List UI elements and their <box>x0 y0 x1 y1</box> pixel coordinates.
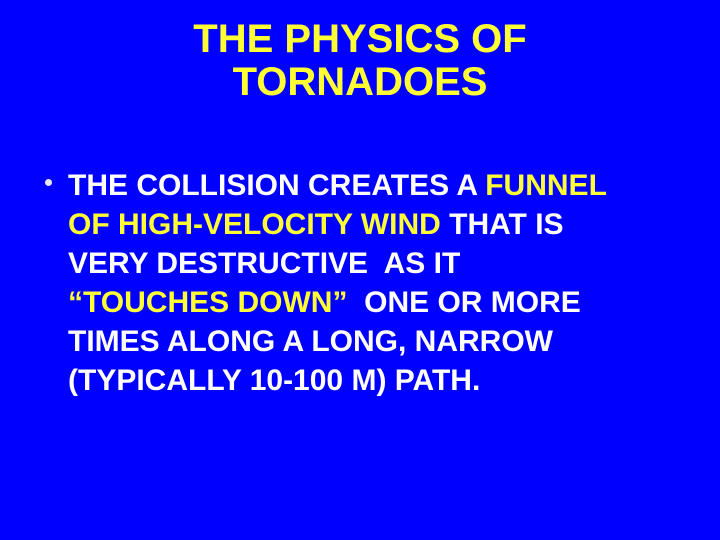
body-line-3: VERY DESTRUCTIVE AS IT <box>68 244 680 283</box>
bullet-point-icon <box>45 179 52 186</box>
presentation-slide: THE PHYSICS OF TORNADOES THE COLLISION C… <box>0 0 720 540</box>
body-line-5: TIMES ALONG A LONG, NARROW <box>68 322 680 361</box>
slide-body: THE COLLISION CREATES A FUNNEL OF HIGH-V… <box>40 166 680 400</box>
body-line-1: THE COLLISION CREATES A FUNNEL <box>68 166 680 205</box>
body-line-2: OF HIGH-VELOCITY WIND THAT IS <box>68 205 680 244</box>
body-line-6: (TYPICALLY 10-100 M) PATH. <box>68 361 680 400</box>
body-line-4-text-highlight: “TOUCHES DOWN” <box>68 286 347 319</box>
slide-title-line-1: THE PHYSICS OF <box>60 18 660 61</box>
body-line-4: “TOUCHES DOWN” ONE OR MORE <box>68 283 680 322</box>
body-line-2-text-white: THAT IS <box>441 208 564 241</box>
slide-title-line-2: TORNADOES <box>60 61 660 104</box>
bullet-list-item: THE COLLISION CREATES A FUNNEL OF HIGH-V… <box>40 166 680 400</box>
body-line-2-text-highlight: OF HIGH-VELOCITY WIND <box>68 208 441 241</box>
body-line-4-text-white: ONE OR MORE <box>347 286 580 319</box>
body-line-1-text-white: THE COLLISION CREATES A <box>68 169 485 202</box>
slide-title: THE PHYSICS OF TORNADOES <box>60 18 660 104</box>
body-line-1-text-highlight: FUNNEL <box>485 169 607 202</box>
